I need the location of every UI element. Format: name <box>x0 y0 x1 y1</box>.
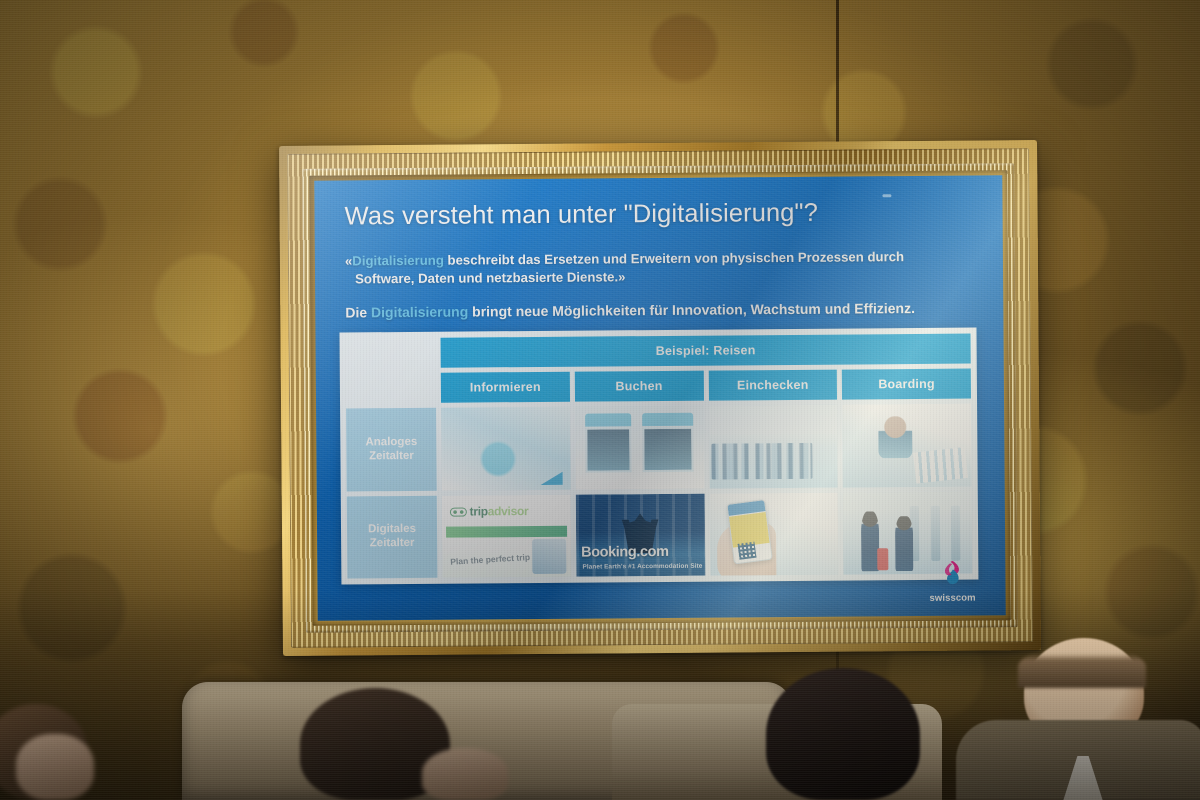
quote-line1-rest: beschreibt das Ersetzen und Erweitern vo… <box>444 249 904 268</box>
column-header-boarding: Boarding <box>842 369 971 400</box>
cell-analog-einchecken <box>709 405 838 489</box>
booking-com-logo: Booking.com <box>581 543 669 560</box>
cell-analog-buchen <box>575 406 704 490</box>
table-corner-blank <box>346 338 436 369</box>
photo-duotone-overlay <box>575 406 704 490</box>
cell-analog-informieren <box>441 407 570 491</box>
slide-quote: «Digitalisierung beschreibt das Ersetzen… <box>345 248 961 288</box>
man-hair <box>1018 646 1146 688</box>
booking-com-tagline: Planet Earth's #1 Accommodation Site <box>582 563 702 571</box>
table-corner-blank-2 <box>346 373 436 404</box>
gilded-picture-frame: Was versteht man unter "Digitalisierung"… <box>279 140 1041 656</box>
lead-suffix: bringt neue Möglichkeiten für Innovation… <box>468 300 915 320</box>
attendee-left-face <box>16 734 94 800</box>
attendee-right-man-in-suit <box>956 648 1200 800</box>
column-header-informieren: Informieren <box>441 372 570 403</box>
cell-digital-informieren: tripadvisor Plan the perfect trip <box>442 494 571 578</box>
lead-highlight-term: Digitalisierung <box>371 304 468 321</box>
travel-example-table: Beispiel: Reisen Informieren Buchen Einc… <box>339 328 978 585</box>
row-label-digitales-zeitalter: Digitales Zeitalter <box>347 495 438 578</box>
photo-duotone-overlay <box>842 404 971 488</box>
photo-duotone-overlay <box>441 407 570 491</box>
column-header-einchecken: Einchecken <box>708 370 837 401</box>
photo-duotone-overlay <box>709 492 838 576</box>
row-label-line2: Zeitalter <box>369 450 414 464</box>
row-label-line2: Zeitalter <box>370 537 415 551</box>
swisscom-wordmark: swisscom <box>922 592 984 603</box>
slide-lead-sentence: Die Digitalisierung bringt neue Möglichk… <box>345 300 975 321</box>
quote-highlight-term: Digitalisierung <box>352 253 444 269</box>
attendee-center-face <box>422 748 508 800</box>
row-label-line1: Analoges <box>365 435 417 449</box>
swisscom-lifeform-icon <box>940 560 964 586</box>
cell-digital-buchen: Booking.com Planet Earth's #1 Accommodat… <box>576 493 705 577</box>
cell-digital-einchecken <box>709 492 838 576</box>
cell-analog-boarding <box>842 404 971 488</box>
attendee-right-dark-hair <box>766 668 920 800</box>
slide-content: Was versteht man unter "Digitalisierung"… <box>314 175 1005 620</box>
row-label-line1: Digitales <box>368 523 416 537</box>
table-span-header: Beispiel: Reisen <box>441 334 971 368</box>
row-label-analoges-zeitalter: Analoges Zeitalter <box>346 408 437 491</box>
photo-duotone-overlay <box>442 494 571 578</box>
lead-prefix: Die <box>345 304 371 320</box>
presentation-room-scene: Was versteht man unter "Digitalisierung"… <box>0 0 1200 800</box>
column-header-buchen: Buchen <box>575 371 704 402</box>
swisscom-logo: swisscom <box>921 559 983 603</box>
quote-line2: Software, Daten und netzbasierte Dienste… <box>345 265 961 287</box>
screen-light-artifact <box>882 194 891 197</box>
booking-com-website-photo: Booking.com Planet Earth's #1 Accommodat… <box>576 493 705 577</box>
slide-title: Was versteht man unter "Digitalisierung"… <box>344 198 974 232</box>
photo-duotone-overlay <box>709 405 838 489</box>
presentation-screen[interactable]: Was versteht man unter "Digitalisierung"… <box>314 175 1005 620</box>
